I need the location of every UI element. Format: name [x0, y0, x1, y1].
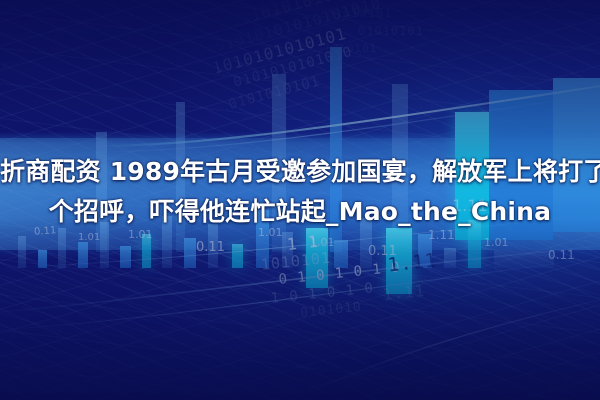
headline-line-1: 折商配资 1989年古月受邀参加国宴，解放军上将打了: [0, 152, 600, 192]
page-title: 折商配资 1989年古月受邀参加国宴，解放军上将打了 个招呼，吓得他连忙站起_M…: [0, 152, 600, 232]
banner-image: 010101010101010101 1010101010101010101 0…: [0, 0, 600, 400]
headline-line-2: 个招呼，吓得他连忙站起_Mao_the_China: [0, 192, 600, 232]
